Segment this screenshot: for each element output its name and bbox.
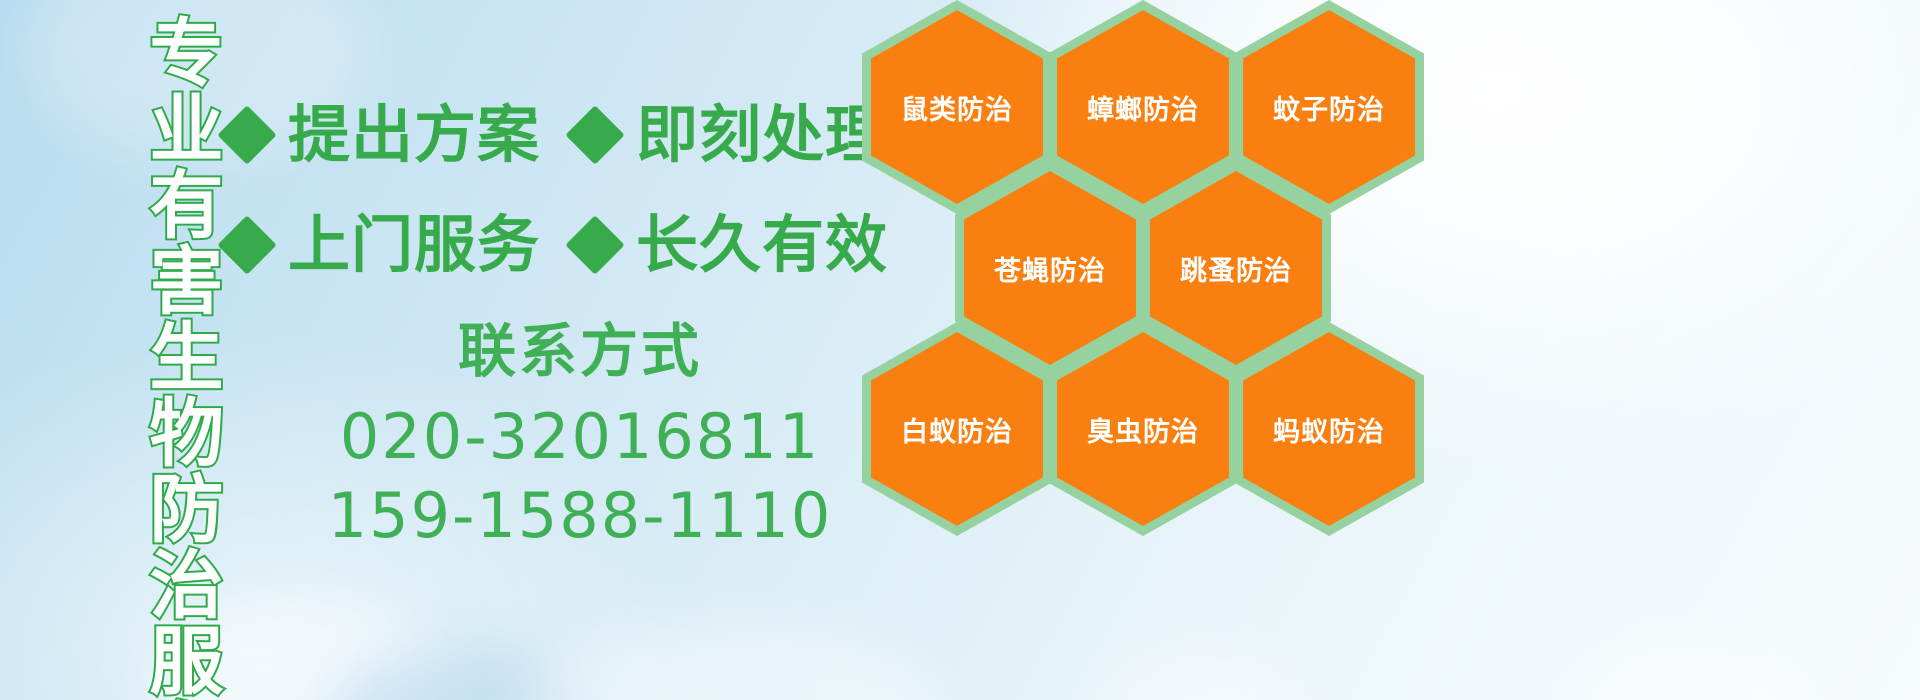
- service-hex-label: 跳蚤防治: [1180, 249, 1292, 288]
- service-hex-inner: 蚊子防治: [1243, 10, 1415, 204]
- slogan-item: 提出方案: [226, 104, 540, 166]
- promo-banner: 专业有害生物防治服务 提出方案 即刻处理 上门服务 长久有效: [0, 0, 1920, 700]
- service-hex-label: 蟑螂防治: [1087, 88, 1199, 127]
- service-hex-inner: 蚂蚁防治: [1243, 332, 1415, 526]
- slogan-label: 即刻处理: [636, 104, 888, 166]
- service-hex-inner: 蟑螂防治: [1057, 10, 1229, 204]
- service-hex-label: 白蚁防治: [901, 410, 1013, 449]
- service-hexagon-grid: 鼠类防治 蟑螂防治 蚊子防治 苍蝇防治 跳蚤防治 白蚁防: [862, 0, 1482, 700]
- slogan-item: 长久有效: [574, 214, 888, 276]
- background-blob: [330, 648, 590, 700]
- service-hex-label: 蚊子防治: [1273, 88, 1385, 127]
- service-hex-label: 臭虫防治: [1087, 410, 1199, 449]
- slogan-label: 提出方案: [288, 104, 540, 166]
- slogan-item: 即刻处理: [574, 104, 888, 166]
- service-hex-label: 鼠类防治: [901, 88, 1013, 127]
- phone-number-mobile[interactable]: 159-1588-1110: [300, 476, 860, 555]
- service-hex-inner: 白蚁防治: [871, 332, 1043, 526]
- service-hex-label: 苍蝇防治: [994, 249, 1106, 288]
- phone-number-landline[interactable]: 020-32016811: [300, 397, 860, 476]
- slogan-item: 上门服务: [226, 214, 540, 276]
- service-hex-label: 蚂蚁防治: [1273, 410, 1385, 449]
- slogan-list: 提出方案 即刻处理 上门服务 长久有效: [226, 80, 886, 300]
- diamond-bullet-icon: [217, 215, 276, 274]
- service-hex-inner: 跳蚤防治: [1150, 171, 1322, 365]
- contact-block: 联系方式 020-32016811 159-1588-1110: [300, 318, 860, 555]
- slogan-label: 上门服务: [288, 214, 540, 276]
- service-hex-inner: 臭虫防治: [1057, 332, 1229, 526]
- diamond-bullet-icon: [565, 215, 624, 274]
- diamond-bullet-icon: [217, 105, 276, 164]
- service-hex-inner: 鼠类防治: [871, 10, 1043, 204]
- contact-title: 联系方式: [300, 318, 860, 385]
- slogan-row: 上门服务 长久有效: [226, 190, 886, 300]
- diamond-bullet-icon: [565, 105, 624, 164]
- slogan-row: 提出方案 即刻处理: [226, 80, 886, 190]
- slogan-label: 长久有效: [636, 214, 888, 276]
- background-blob: [1560, 640, 1820, 700]
- service-hex-inner: 苍蝇防治: [964, 171, 1136, 365]
- vertical-headline: 专业有害生物防治服务: [110, 14, 218, 700]
